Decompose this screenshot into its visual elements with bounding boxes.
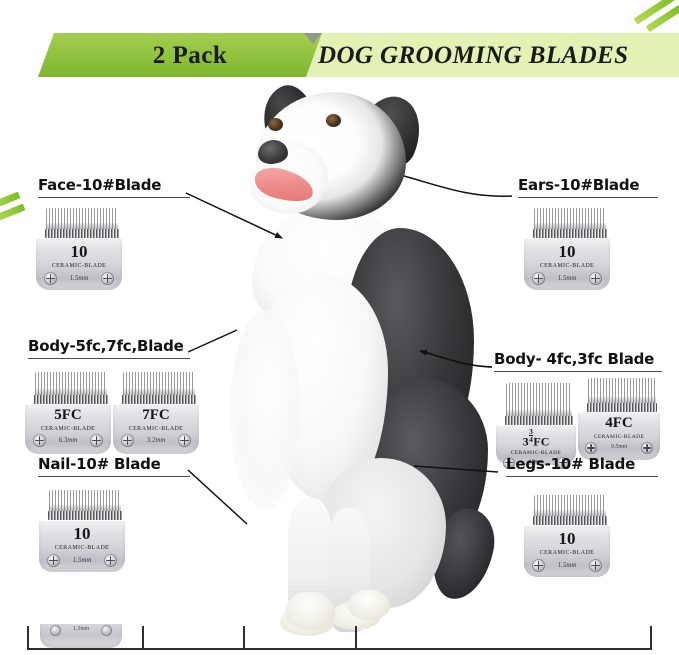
blade-body: 5FC CERAMIC-BLADE 6.3mm: [25, 404, 111, 454]
blade-comb: [122, 395, 196, 404]
blade-mm: 1.5mm: [39, 556, 125, 564]
blade-body-3-3-4fc: 334FC CERAMIC-BLADE 13mm: [502, 383, 576, 465]
callout-body-right-label: Body- 4fc,3fc Blade: [494, 350, 662, 368]
blade-body: 10 CERAMIC-BLADE 1.5mm: [524, 238, 610, 290]
callout-face-label: Face-10#Blade: [38, 176, 190, 194]
blade-teeth: [534, 495, 606, 517]
callout-face-rule: [38, 197, 190, 198]
blade-teeth: [35, 372, 107, 396]
blade-size-whole: 3: [523, 435, 529, 449]
callout-legs-label: Legs-10# Blade: [506, 455, 658, 473]
callout-body-right: Body- 4fc,3fc Blade: [494, 350, 662, 372]
blade-screws: 1.5mm: [39, 551, 125, 569]
callout-nail-rule: [38, 476, 190, 477]
callout-body-left: Body-5fc,7fc,Blade: [28, 337, 190, 359]
dog-eye-right: [326, 114, 341, 127]
blade-comb: [34, 395, 108, 404]
callout-body-right-rule: [494, 371, 662, 372]
strip-tick: [142, 626, 144, 650]
blade-screws: 6.3mm: [25, 432, 111, 450]
corner-stripes-left: [0, 192, 28, 229]
blade-body-7fc: 7FC CERAMIC-BLADE 3.2mm: [119, 372, 199, 454]
blade-comb: [533, 229, 607, 238]
blade-teeth: [588, 378, 656, 404]
strip-tick: [243, 626, 245, 650]
strip-tick: [650, 626, 652, 650]
blade-screws: 1.5mm: [36, 269, 122, 287]
blade-screws: 3.2mm: [113, 432, 199, 450]
blade-body-4fc: 4FC CERAMIC-BLADE 9.5mm: [584, 378, 660, 460]
callout-ears: Ears-10#Blade: [518, 176, 658, 198]
blade-body: 10 CERAMIC-BLADE 1.5mm: [36, 238, 122, 290]
pack-count-label: 2 Pack: [95, 39, 285, 73]
header-banner: 2 Pack DOG GROOMING BLADES: [0, 33, 679, 81]
blade-ears-10: 10 CERAMIC-BLADE 1.5mm: [530, 208, 610, 290]
blade-mm: 9.5mm: [578, 444, 660, 450]
callout-nail-label: Nail-10# Blade: [38, 455, 190, 473]
blade-comb: [587, 403, 657, 412]
blade-comb: [45, 229, 119, 238]
dog-paw-crop-right: [348, 590, 390, 620]
dog-photo: [196, 78, 496, 638]
blade-screws: 9.5mm: [578, 440, 660, 456]
blade-body: 7FC CERAMIC-BLADE 3.2mm: [113, 404, 199, 454]
callout-body-left-label: Body-5fc,7fc,Blade: [28, 337, 190, 355]
blade-face-10: 10 CERAMIC-BLADE 1.5mm: [42, 208, 122, 290]
blade-comb: [533, 516, 607, 525]
blade-mm: 1.5mm: [524, 561, 610, 569]
blade-teeth: [49, 490, 121, 512]
blade-mm: 3.2mm: [113, 436, 199, 444]
blade-size: 10: [524, 525, 610, 547]
blade-mm: 1.5mm: [40, 626, 122, 632]
callout-legs: Legs-10# Blade: [506, 455, 658, 477]
blade-size: 10: [39, 520, 125, 542]
blade-body: 10 CERAMIC-BLADE 1.5mm: [39, 520, 125, 572]
dog-chest-fur: [230, 310, 300, 510]
strip-tick: [355, 626, 357, 650]
infographic-canvas: 2 Pack DOG GROOMING BLADES: [0, 0, 679, 655]
callout-nail: Nail-10# Blade: [38, 455, 190, 477]
blade-teeth: [506, 383, 572, 417]
blade-mm: 6.3mm: [25, 436, 111, 444]
blade-mm: 1.5mm: [36, 274, 122, 282]
blade-nail-10: 10 CERAMIC-BLADE 1.5mm: [45, 490, 125, 572]
blade-screws: 1.5mm: [524, 269, 610, 287]
blade-comb: [505, 416, 573, 425]
blade-body-5fc: 5FC CERAMIC-BLADE 6.3mm: [31, 372, 111, 454]
blade-mm: 1.5mm: [524, 274, 610, 282]
callout-ears-rule: [518, 197, 658, 198]
blade-body: 4FC CERAMIC-BLADE 9.5mm: [578, 412, 660, 460]
dog-paw-crop-left: [285, 592, 335, 630]
callout-legs-rule: [506, 476, 658, 477]
bottom-cropped-strip: 1.5mm: [0, 600, 679, 655]
blade-size: 10: [36, 238, 122, 260]
blade-screws: 1.5mm: [524, 556, 610, 574]
blade-size: 4FC: [578, 412, 660, 431]
strip-divider-rule: [27, 648, 652, 650]
page-title: DOG GROOMING BLADES: [318, 38, 673, 74]
blade-size: 7FC: [113, 404, 199, 423]
blade-size: 334FC: [496, 425, 576, 448]
blade-comb: [48, 511, 122, 520]
blade-legs-10: 10 CERAMIC-BLADE 1.5mm: [530, 495, 610, 577]
strip-tick: [27, 626, 29, 650]
dog-eye-left: [268, 118, 283, 131]
stripe-bar: [0, 204, 25, 222]
callout-ears-label: Ears-10#Blade: [518, 176, 658, 194]
partial-blade-crop: 1.5mm: [40, 624, 122, 648]
blade-teeth: [534, 208, 606, 230]
blade-teeth: [46, 208, 118, 230]
blade-size: 5FC: [25, 404, 111, 423]
dog-nose: [258, 140, 288, 164]
callout-face: Face-10#Blade: [38, 176, 190, 198]
blade-size-suffix: FC: [533, 435, 549, 449]
callout-body-left-rule: [28, 358, 190, 359]
blade-teeth: [123, 372, 195, 396]
blade-body: 10 CERAMIC-BLADE 1.5mm: [524, 525, 610, 577]
blade-size: 10: [524, 238, 610, 260]
